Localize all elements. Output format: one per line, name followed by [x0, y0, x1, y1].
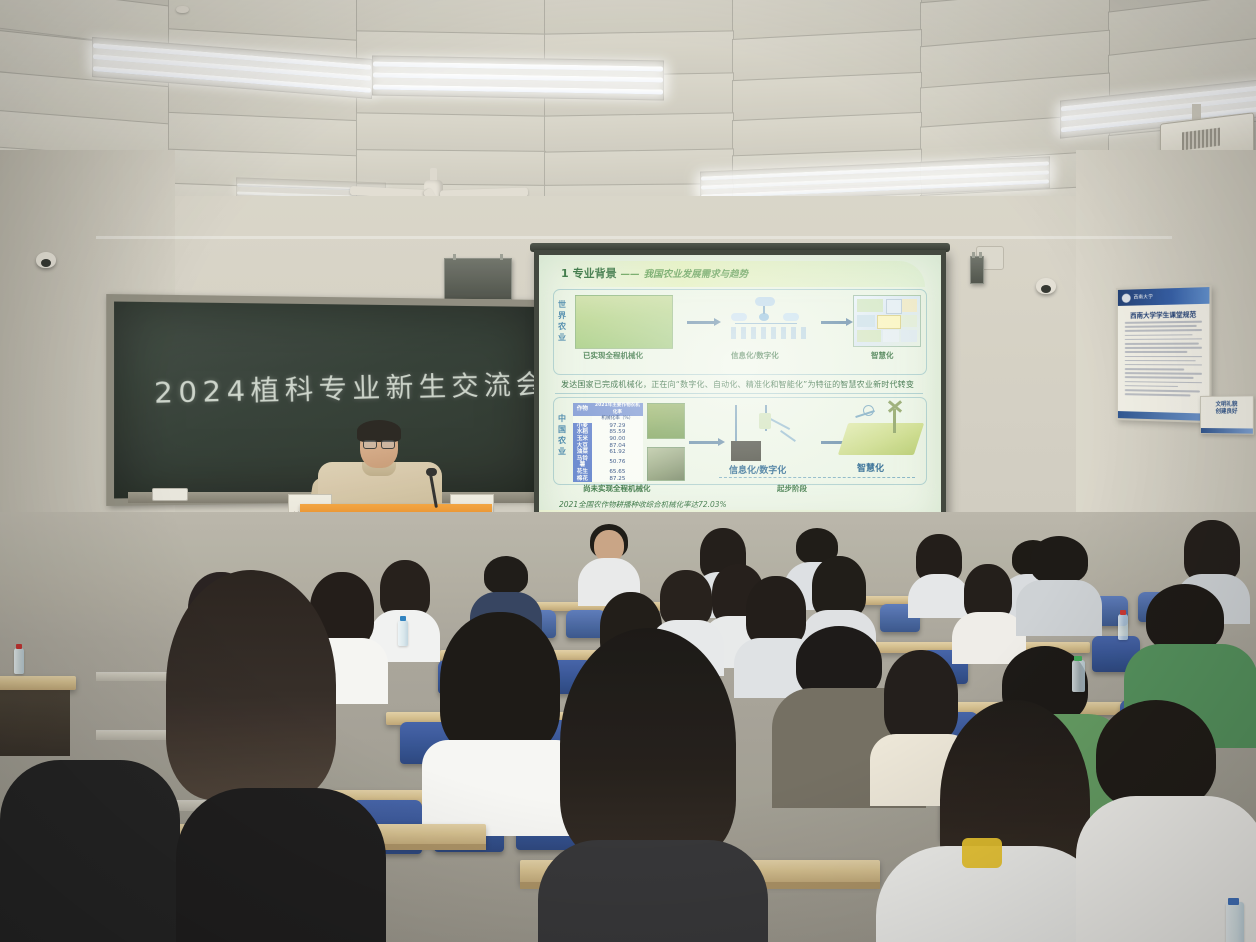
water-bottle [1226, 902, 1244, 942]
classroom-photo: 西南大学 西南大学学生课堂规范 文明礼貌创建良好 2024植科专业新生交流会 [0, 0, 1256, 942]
side-desk-left [0, 676, 76, 690]
student-torso [908, 574, 970, 618]
row2-caption-left: 尚未实现全程机械化 [583, 483, 651, 494]
row2-stage-note: 起步阶段 [777, 483, 807, 494]
table-row: 马铃薯 50.76 [573, 456, 643, 469]
row1-arrow-1 [687, 321, 715, 324]
crop-rate: 90.00 [592, 436, 643, 443]
wall-sign-text: 文明礼貌创建良好 [1201, 402, 1253, 417]
slide-title-sub: 我国农业发展需求与趋势 [644, 266, 749, 280]
row2-caption-mid: 信息化/数字化 [729, 463, 786, 476]
student-hair [812, 556, 866, 618]
crop-name: 棉花 [573, 476, 592, 483]
mechanization-rate-table: 作物 2021年主要作物农机化率 机械化率（%） 小麦 97.29 水稻 85.… [573, 403, 643, 482]
water-bottle [14, 648, 24, 674]
table-row: 水稻 85.59 [573, 429, 643, 436]
crop-rate: 97.29 [592, 423, 643, 430]
row2-photo-machine [647, 447, 685, 481]
projection-screen: 1 专业背景 —— 我国农业发展需求与趋势 世界农业 已实现全程机械化 [539, 255, 941, 530]
poster-footer-band [1118, 411, 1209, 421]
row1-photo-field [575, 295, 673, 349]
row2-diagram-sensors [725, 405, 815, 465]
crop-rate: 87.04 [592, 443, 643, 450]
presenter-hair [357, 420, 401, 442]
university-logo-icon [1122, 293, 1131, 302]
slide-title-dash: —— [621, 269, 640, 280]
student-torso [176, 788, 386, 942]
crop-name: 水稻 [573, 429, 592, 436]
crop-rate: 65.65 [592, 469, 643, 476]
slide-title-main: 专业背景 [573, 265, 617, 281]
wall-sign-band [1201, 428, 1253, 434]
microphone-head [426, 468, 437, 476]
slide-footnote: 2021全国农作物耕播种收综合机械化率达72.03% [559, 499, 727, 510]
poster-header-band: 西南大学 [1118, 287, 1209, 306]
yellow-item-on-desk [962, 838, 1002, 868]
row2-label: 中国农业 [555, 413, 569, 457]
table-row: 油菜 61.92 [573, 449, 643, 456]
dome-camera-right [1036, 278, 1056, 294]
table-title: 2021年主要作物农机化率 [592, 403, 643, 416]
water-bottle [398, 620, 408, 646]
row1-photo-dashboard [853, 295, 921, 347]
student-hair [440, 612, 560, 754]
blackboard-chalk-text: 2024植科专业新生交流会 [153, 362, 548, 411]
side-desk-panel-left [0, 690, 70, 756]
row2-photo-crop [647, 403, 685, 439]
row2-caption-right: 智慧化 [857, 461, 884, 474]
table-subheader-row: 机械化率（%） [573, 416, 643, 423]
table-row: 花生 65.65 [573, 469, 643, 476]
blackboard-eraser [152, 488, 188, 501]
student-hair [660, 570, 712, 626]
classroom-rules-poster: 西南大学 西南大学学生课堂规范 [1116, 285, 1212, 423]
student-torso [422, 740, 582, 836]
water-bottle [1118, 614, 1128, 640]
slide-divider [555, 393, 923, 394]
row1-diagram-iot [725, 297, 811, 345]
table-col-rate: 机械化率（%） [592, 416, 643, 423]
student-hair [1146, 584, 1224, 652]
wall-trim [96, 236, 1172, 239]
ceiling-light-fixture-2 [372, 55, 664, 100]
table-header-row: 作物 2021年主要作物农机化率 [573, 403, 643, 416]
crop-name: 油菜 [573, 449, 592, 456]
student-hair [1096, 700, 1216, 810]
presentation-slide: 1 专业背景 —— 我国农业发展需求与趋势 世界农业 已实现全程机械化 [539, 255, 941, 530]
student-torso [1016, 580, 1102, 636]
glasses-icon [363, 440, 395, 447]
university-name: 西南大学 [1134, 294, 1154, 301]
row2-diagram-smartfarm [839, 401, 925, 463]
student-hair [484, 556, 528, 594]
row2-arrow-1 [689, 441, 719, 444]
row1-label: 世界农业 [555, 299, 569, 343]
row1-caption-right: 智慧化 [871, 350, 894, 361]
student-hair [1184, 520, 1240, 582]
row1-caption-mid: 信息化/数字化 [731, 350, 779, 361]
crop-rate: 87.25 [592, 476, 643, 483]
poster-body-text [1125, 321, 1202, 400]
slide-paragraph: 发达国家已完成机械化，正在向“数字化、自动化、精准化和智能化”为特征的智慧农业新… [561, 379, 914, 390]
wall-speaker-center [444, 258, 512, 300]
student-hair [1030, 536, 1088, 584]
table-row: 玉米 90.00 [573, 436, 643, 443]
row2-stage-dashline [719, 477, 915, 478]
smoke-detector-icon [176, 6, 189, 13]
crop-rate: 50.76 [592, 456, 643, 469]
student-torso [0, 760, 180, 942]
crop-name: 花生 [573, 469, 592, 476]
student-hair [166, 570, 336, 800]
crop-rate: 85.59 [592, 429, 643, 436]
wall-speaker-right [970, 256, 984, 284]
projection-screen-frame: 1 专业背景 —— 我国农业发展需求与趋势 世界农业 已实现全程机械化 [534, 250, 946, 535]
slide-title-number: 1 [561, 267, 569, 280]
table-row: 棉花 87.25 [573, 476, 643, 483]
row1-arrow-2 [821, 321, 847, 324]
water-bottle [1072, 660, 1085, 692]
student-torso [538, 840, 768, 942]
wall-sign: 文明礼貌创建良好 [1200, 395, 1254, 434]
student-hair [560, 628, 736, 860]
student-hair [746, 576, 806, 646]
row1-caption-left: 已实现全程机械化 [583, 350, 643, 361]
crop-name: 马铃薯 [573, 456, 592, 469]
dome-camera-left [36, 252, 56, 268]
crop-rate: 61.92 [592, 449, 643, 456]
slide-title: 1 专业背景 —— 我国农业发展需求与趋势 [561, 265, 748, 281]
student-hair [884, 650, 958, 742]
crop-name: 玉米 [573, 436, 592, 443]
table-col-crop: 作物 [573, 403, 592, 416]
poster-title: 西南大学学生课堂规范 [1118, 308, 1209, 320]
